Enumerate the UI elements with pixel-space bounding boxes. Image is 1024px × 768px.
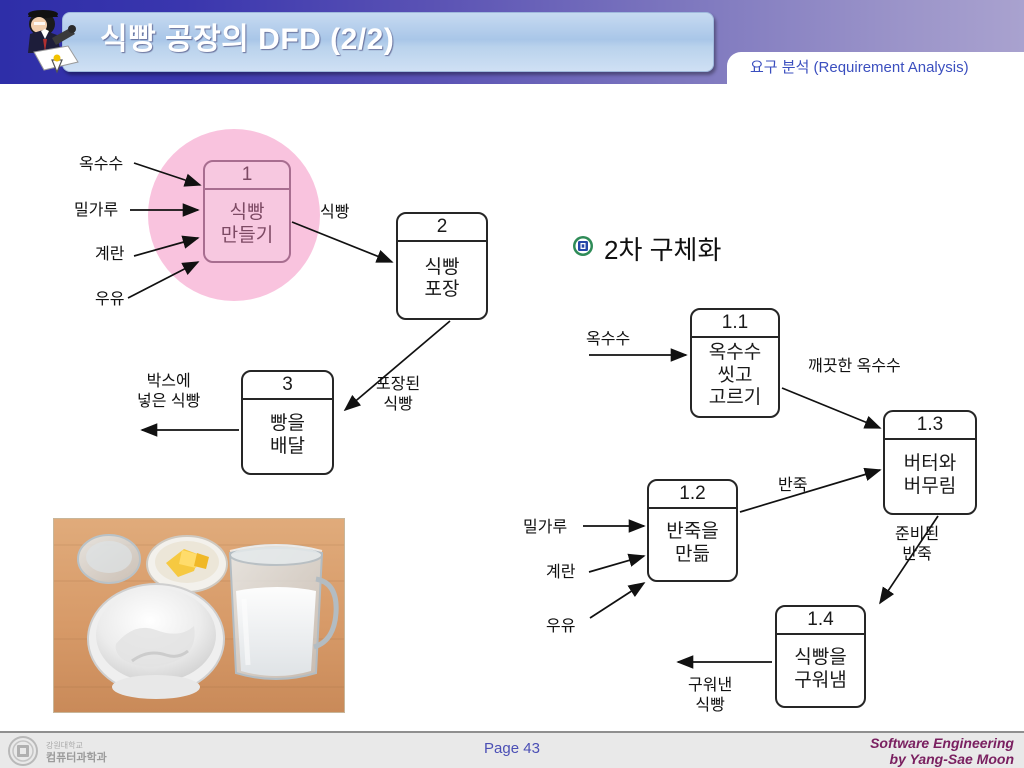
flow-label-clean-corn: 깨끗한 옥수수 [808, 357, 901, 376]
process-box-2[interactable]: 2 식빵 포장 [396, 212, 488, 320]
footer-credit-line2: by Yang-Sae Moon [870, 751, 1014, 767]
process-id-3: 3 [243, 372, 332, 400]
process-label-1-1-line3: 고르기 [709, 387, 761, 409]
analyst-writing-icon [8, 4, 82, 78]
flow-label-dough: 반죽 [778, 476, 807, 495]
flow-label-prepared-dough: 준비된 반죽 [895, 525, 939, 565]
flow-label-packaged-bread: 포장된 식빵 [376, 375, 420, 415]
flow-label-boxed-bread: 박스에 넣은 식빵 [137, 372, 200, 412]
process-label-1-1-line1: 옥수수 [709, 342, 761, 364]
flow-label-prepared-dough-line1: 준비된 [895, 525, 939, 545]
process-label-1-2-line1: 반죽을 [666, 521, 718, 543]
input-label-egg-1: 계란 [95, 245, 124, 264]
section-heading: 2차 구체화 [604, 230, 721, 267]
process-label-1-3: 버터와 버무림 [885, 438, 975, 513]
footer-credit: Software Engineering by Yang-Sae Moon [870, 735, 1014, 767]
process-id-1: 1 [205, 162, 289, 190]
process-label-1-4-line1: 식빵을 [794, 647, 846, 669]
process-label-1-2-line2: 만듦 [675, 544, 710, 566]
flow-label-bread-1: 식빵 [320, 203, 349, 222]
flow-label-prepared-dough-line2: 반죽 [895, 545, 939, 565]
flow-label-baked-bread: 구워낸 식빵 [688, 676, 732, 716]
flow-label-baked-bread-line2: 식빵 [688, 696, 732, 716]
process-label-1-4-line2: 구워냄 [794, 670, 846, 692]
process-label-3-line2: 배달 [270, 436, 305, 458]
page-title: 식빵 공장의 DFD (2/2) [100, 17, 700, 67]
process-id-1-3: 1.3 [885, 412, 975, 440]
process-id-1-1: 1.1 [692, 310, 778, 338]
process-label-1-3-line1: 버터와 [904, 453, 956, 475]
ingredients-photo [53, 518, 345, 713]
input-label-flour-1: 밀가루 [74, 201, 118, 220]
flow-label-packaged-bread-line1: 포장된 [376, 375, 420, 395]
process-label-1-line1: 식빵 [230, 202, 265, 224]
flow-label-boxed-bread-line1: 박스에 [137, 372, 200, 392]
input-label-milk-2: 우유 [546, 617, 575, 636]
process-box-3[interactable]: 3 빵을 배달 [241, 370, 334, 475]
process-box-1-4[interactable]: 1.4 식빵을 구워냄 [775, 605, 866, 708]
input-label-corn-1: 옥수수 [79, 155, 123, 174]
input-label-milk-1: 우유 [95, 290, 124, 309]
subject-tab-label: 요구 분석 (Requirement Analysis) [750, 56, 969, 80]
flow-label-baked-bread-line1: 구워낸 [688, 676, 732, 696]
process-box-1[interactable]: 1 식빵 만들기 [203, 160, 291, 263]
process-box-1-3[interactable]: 1.3 버터와 버무림 [883, 410, 977, 515]
process-label-2-line1: 식빵 [425, 257, 460, 279]
process-box-1-1[interactable]: 1.1 옥수수 씻고 고르기 [690, 308, 780, 418]
university-crest-bullet-icon [572, 235, 594, 257]
process-box-1-2[interactable]: 1.2 반죽을 만듦 [647, 479, 738, 582]
footer-credit-line1: Software Engineering [870, 735, 1014, 751]
process-label-1-1-line2: 씻고 [718, 365, 753, 387]
flow-label-packaged-bread-line2: 식빵 [376, 395, 420, 415]
process-id-1-4: 1.4 [777, 607, 864, 635]
process-label-1-2: 반죽을 만듦 [649, 507, 736, 580]
process-label-1-line2: 만들기 [221, 225, 273, 247]
process-label-2: 식빵 포장 [398, 240, 486, 318]
process-label-2-line2: 포장 [425, 279, 460, 301]
process-id-2: 2 [398, 214, 486, 242]
flow-label-boxed-bread-line2: 넣은 식빵 [137, 392, 200, 412]
process-id-1-2: 1.2 [649, 481, 736, 509]
process-label-1-3-line2: 버무림 [904, 476, 956, 498]
process-label-3: 빵을 배달 [243, 398, 332, 473]
input-label-egg-2: 계란 [546, 563, 575, 582]
process-label-3-line1: 빵을 [270, 413, 305, 435]
input-label-corn-2: 옥수수 [586, 330, 630, 349]
process-label-1-1: 옥수수 씻고 고르기 [692, 336, 778, 416]
input-label-flour-2: 밀가루 [523, 518, 567, 537]
process-label-1-4: 식빵을 구워냄 [777, 633, 864, 706]
process-label-1: 식빵 만들기 [205, 188, 289, 261]
